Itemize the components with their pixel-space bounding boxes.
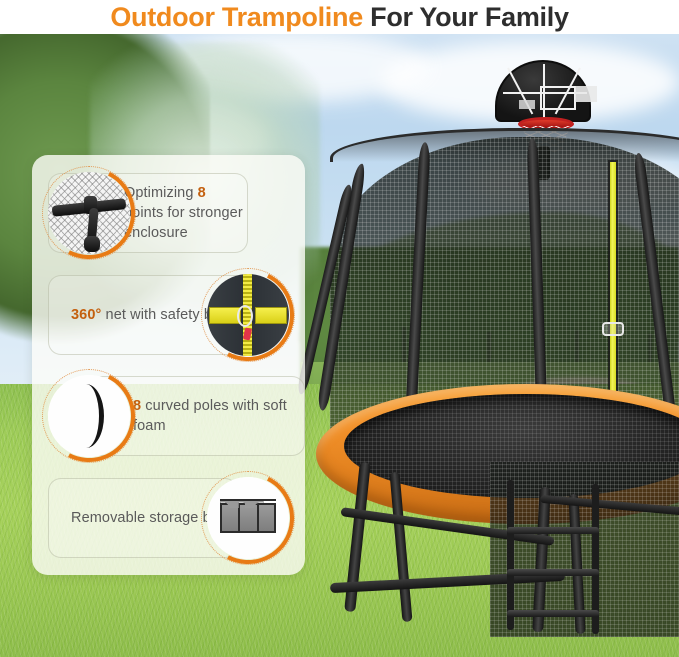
backboard bbox=[495, 60, 591, 122]
backboard-shooting-square bbox=[540, 86, 576, 110]
feature-text: Optimizing 8 points for stronger enclosu… bbox=[124, 183, 247, 243]
feature-text-after: curved poles with soft foam bbox=[133, 398, 287, 434]
feature-item: Optimizing 8 points for stronger enclosu… bbox=[42, 164, 295, 261]
ladder-step bbox=[507, 527, 599, 534]
feature-panel: Optimizing 8 points for stronger enclosu… bbox=[32, 155, 305, 575]
page-title: Outdoor Trampoline For Your Family bbox=[110, 4, 568, 31]
zipper-pull bbox=[602, 322, 624, 336]
curved-pole-icon bbox=[42, 369, 136, 463]
ladder-step bbox=[507, 569, 599, 576]
trampoline bbox=[300, 32, 679, 657]
title-highlight: Outdoor Trampoline bbox=[110, 2, 363, 32]
safety-buckle-icon bbox=[201, 268, 295, 362]
title-bar: Outdoor Trampoline For Your Family bbox=[0, 0, 679, 34]
feature-text: 8 curved poles with soft foam bbox=[133, 396, 304, 436]
feature-text-after: points for stronger enclosure bbox=[124, 205, 243, 241]
title-rest: For Your Family bbox=[363, 2, 569, 32]
feature-highlight: 8 bbox=[198, 185, 206, 201]
ladder-rail bbox=[507, 480, 514, 630]
feature-item: Removable storage bag bbox=[42, 469, 295, 566]
feature-item: 8 curved poles with soft foam bbox=[42, 367, 295, 464]
storage-bag-icon bbox=[201, 471, 295, 565]
feature-highlight: 360° bbox=[71, 307, 101, 323]
backboard-label-small bbox=[519, 100, 535, 109]
feature-item: 360° net with safety buckle bbox=[42, 266, 295, 363]
net-pole-connector-icon bbox=[42, 166, 136, 260]
ladder-step bbox=[507, 610, 599, 617]
backboard-label bbox=[575, 86, 597, 102]
